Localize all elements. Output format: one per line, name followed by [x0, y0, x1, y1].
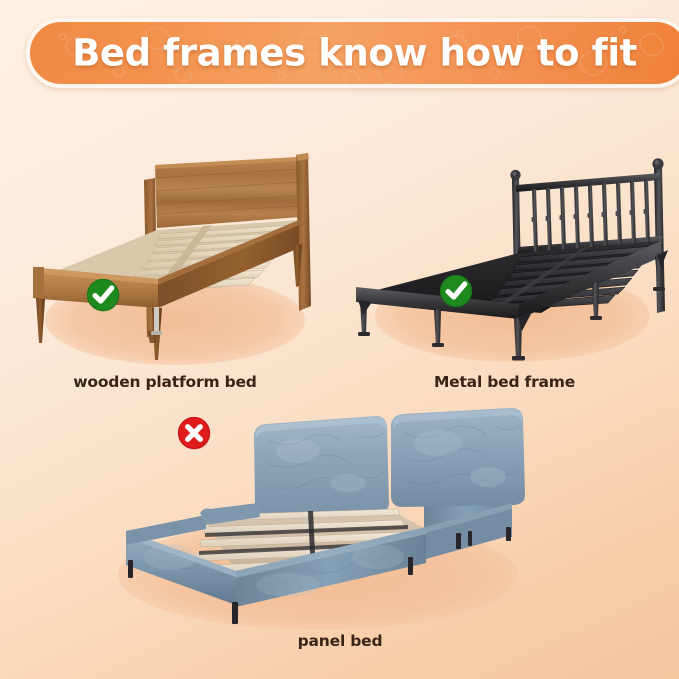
check-circle-icon — [437, 272, 475, 310]
bed-card-panel-bed: panel bed — [90, 400, 590, 670]
bed-label-metal-bed-frame: Metal bed frame — [330, 373, 679, 391]
bed-label-panel-bed: panel bed — [90, 632, 590, 650]
bed-card-metal-bed-frame: Metal bed frame — [330, 120, 679, 395]
wooden-platform-bed-illustration — [8, 138, 328, 368]
bed-label-wooden-platform-bed: wooden platform bed — [0, 373, 330, 391]
page-title: Bed frames know how to fit — [30, 32, 679, 75]
cross-circle-icon — [175, 414, 213, 452]
infographic-page: Bed frames know how to fit — [0, 0, 679, 679]
metal-bed-frame-illustration — [336, 135, 672, 370]
panel-bed-illustration — [108, 405, 528, 635]
header-banner: Bed frames know how to fit — [26, 18, 679, 88]
banner-pill: Bed frames know how to fit — [26, 18, 679, 88]
check-circle-icon — [84, 276, 122, 314]
bed-card-wooden-platform-bed: wooden platform bed — [0, 120, 330, 395]
